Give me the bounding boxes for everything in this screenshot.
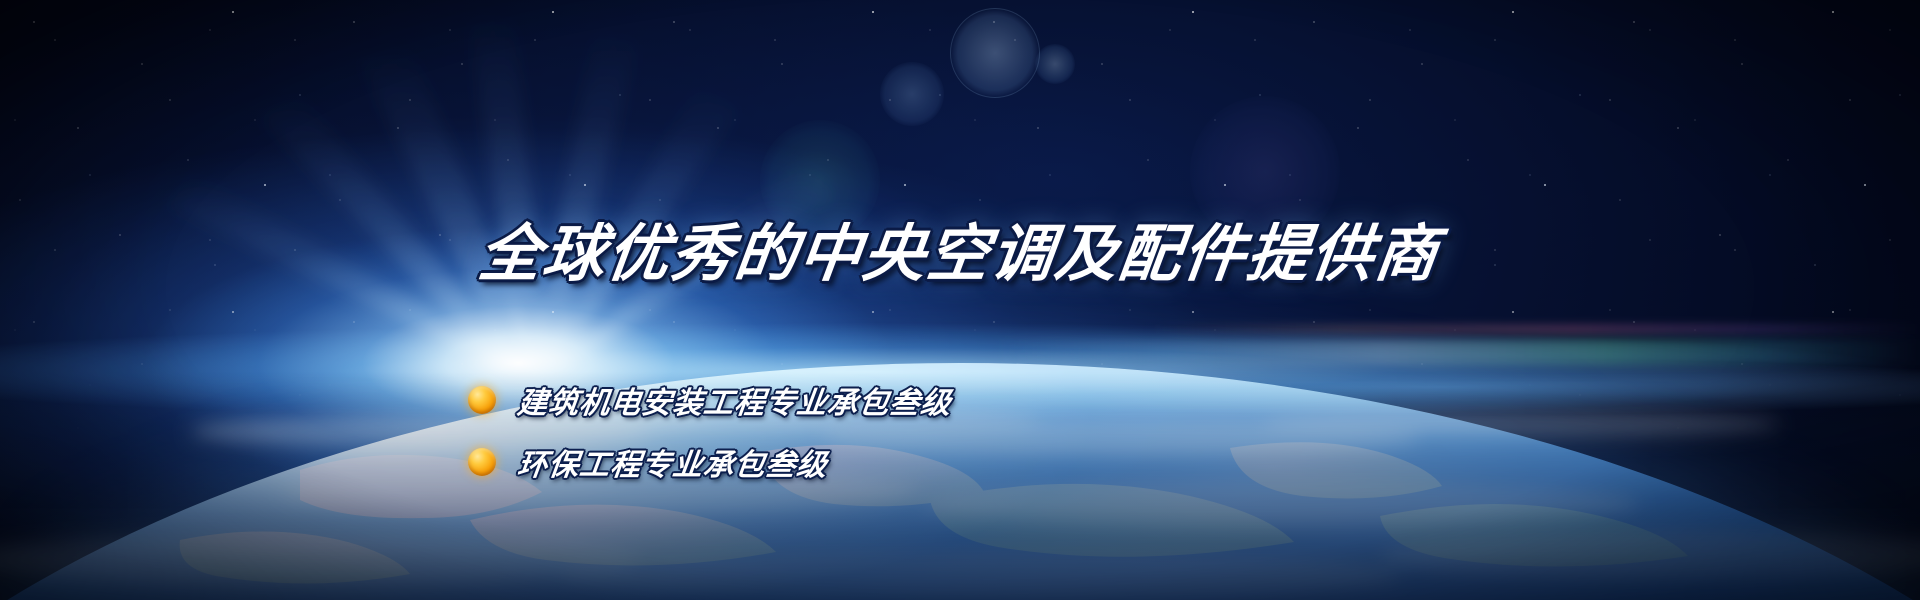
bullet-dot-icon	[468, 448, 496, 476]
bullet-dot-icon	[468, 386, 496, 414]
bullet-item-1: 建筑机电安装工程专业承包叁级	[468, 378, 952, 422]
bullet-item-2: 环保工程专业承包叁级	[468, 440, 952, 484]
banner-content: 全球优秀的中央空调及配件提供商 建筑机电安装工程专业承包叁级 环保工程专业承包叁…	[0, 0, 1920, 600]
hero-banner: 全球优秀的中央空调及配件提供商 建筑机电安装工程专业承包叁级 环保工程专业承包叁…	[0, 0, 1920, 600]
bullet-item-2-label: 环保工程专业承包叁级	[515, 440, 830, 484]
bullet-item-1-label: 建筑机电安装工程专业承包叁级	[515, 378, 954, 422]
banner-bullet-list: 建筑机电安装工程专业承包叁级 环保工程专业承包叁级	[468, 378, 952, 502]
banner-headline: 全球优秀的中央空调及配件提供商	[0, 203, 1920, 293]
